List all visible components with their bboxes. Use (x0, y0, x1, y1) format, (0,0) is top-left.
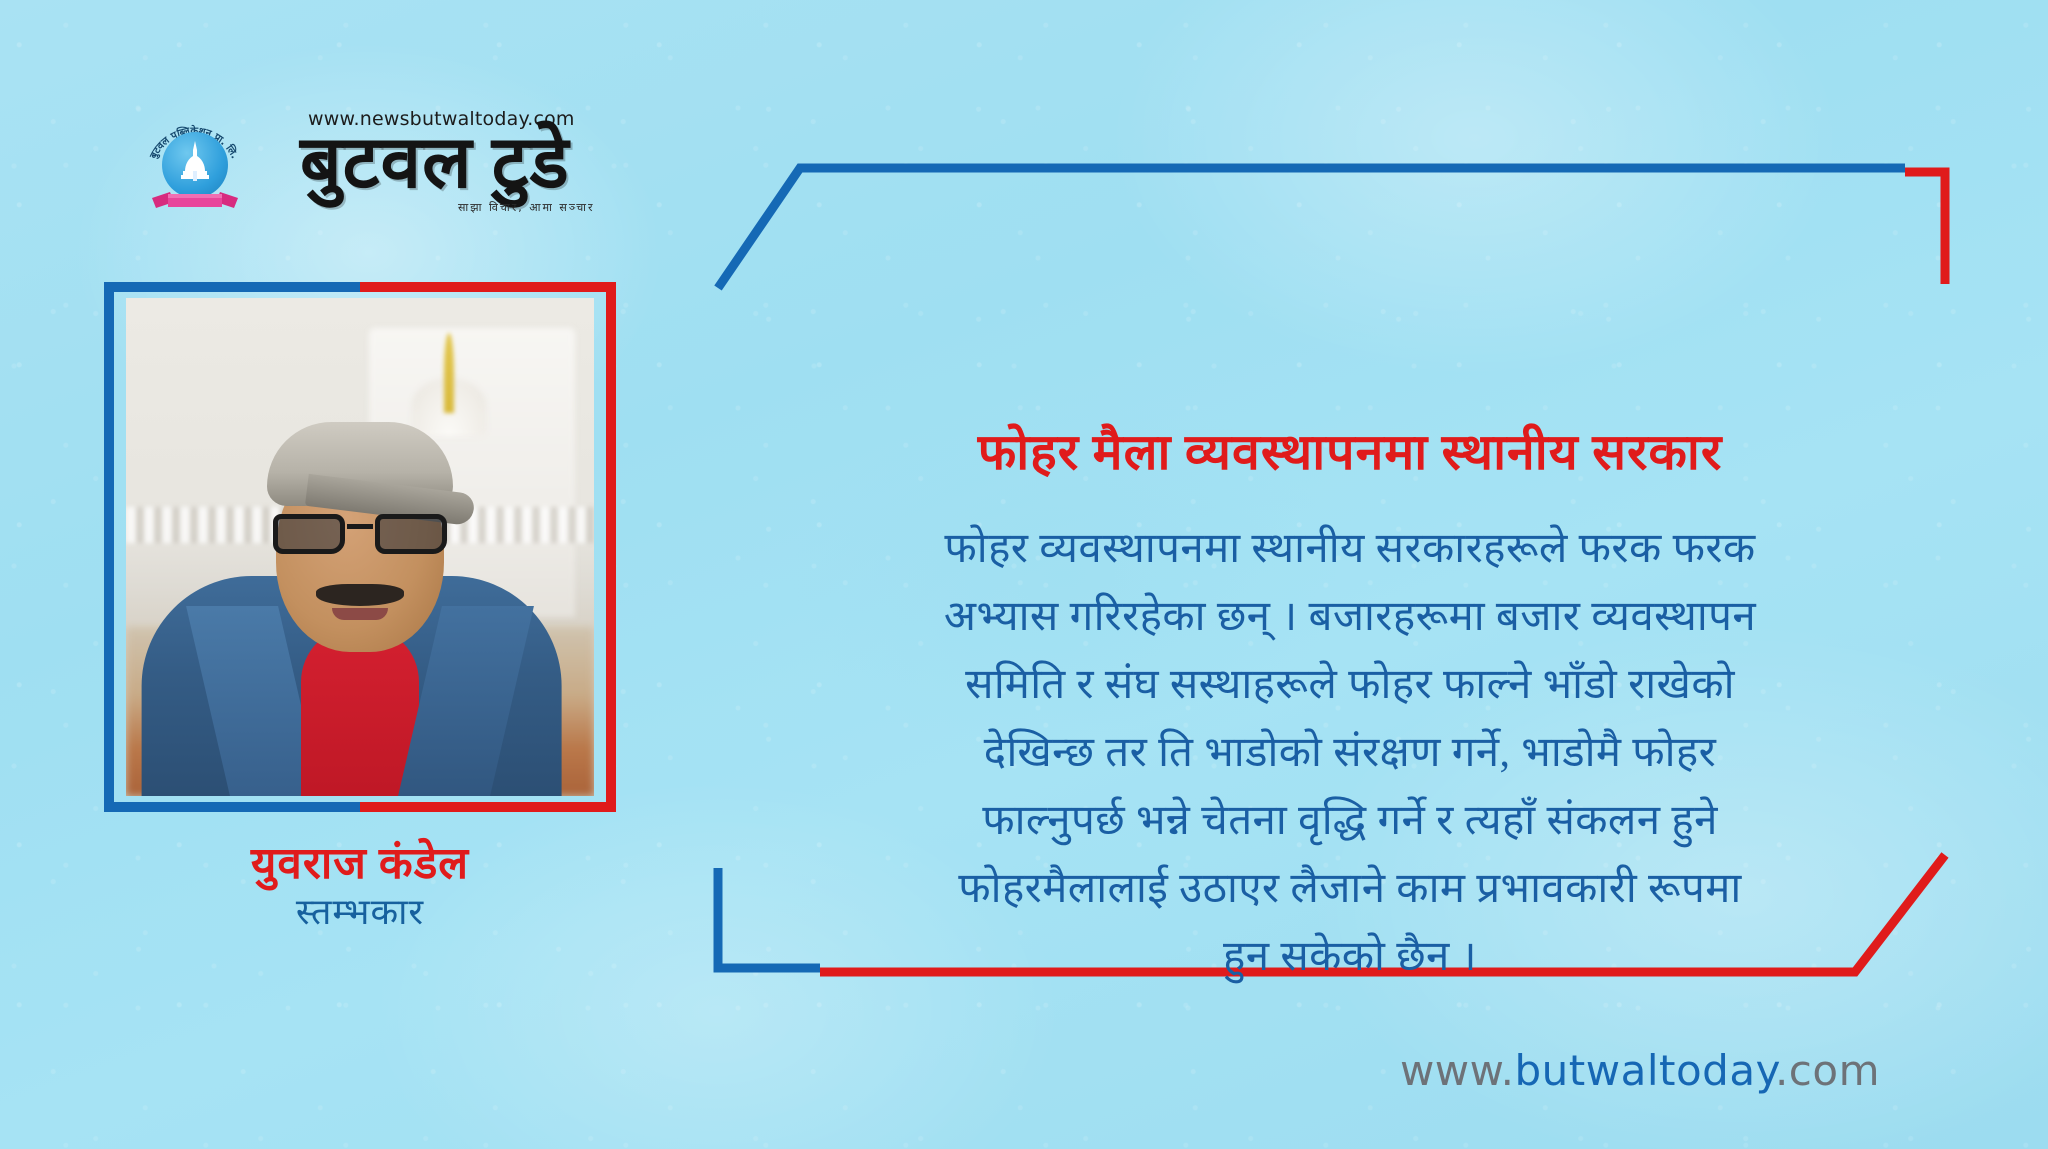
publisher-emblem: बुटवल पब्लिकेशन प्रा. लि. (142, 114, 246, 218)
frame-border-right (606, 282, 616, 812)
frame-border-bottom-left (104, 802, 360, 812)
body-line: फोहर व्यवस्थापनमा स्थानीय सरकारहरूले फरक… (770, 515, 1930, 583)
body-line: हुन सकेको छैन । (770, 923, 1930, 991)
ribbon-banner-icon (150, 188, 240, 212)
author-photo-frame (104, 282, 616, 812)
frame-border-bottom-right (360, 802, 616, 812)
footer-website-url[interactable]: www.butwaltoday.com (1400, 1046, 1880, 1095)
stupa-icon (180, 140, 210, 184)
body-line: फाल्नुपर्छ भन्ने चेतना वृद्धि गर्ने र त्… (770, 787, 1930, 855)
author-byline: युवराज कंडेल स्तम्भकार (104, 838, 616, 935)
article-text-block: फोहर मैला व्यवस्थापनमा स्थानीय सरकार फोह… (770, 420, 1930, 991)
bracket-top-right-red (1905, 172, 1945, 284)
frame-border-top-left (104, 282, 360, 292)
glasses-lens-left (273, 514, 345, 554)
url-domain: butwaltoday (1515, 1046, 1775, 1095)
frame-border-left (104, 282, 114, 812)
article-headline: फोहर मैला व्यवस्थापनमा स्थानीय सरकार (770, 420, 1930, 485)
body-line: अभ्यास गरिरहेका छन् । बजारहरूमा बजार व्य… (770, 583, 1930, 651)
url-prefix: www. (1400, 1046, 1515, 1095)
masthead-logo[interactable]: बुटवल पब्लिकेशन प्रा. लि. www.newsbutwal… (140, 108, 620, 220)
masthead-tagline: साझा विचार, आमा सञ्चार (458, 200, 595, 215)
url-suffix: .com (1775, 1046, 1880, 1095)
body-line: फोहरमैलालाई उठाएर लैजाने काम प्रभावकारी … (770, 855, 1930, 923)
glasses-bridge (347, 524, 373, 529)
author-portrait-photo (126, 298, 594, 796)
eyeglasses-icon (267, 514, 453, 556)
body-line: देखिन्छ तर ति भाडोको संरक्षण गर्ने, भाडो… (770, 719, 1930, 787)
article-body: फोहर व्यवस्थापनमा स्थानीय सरकारहरूले फरक… (770, 515, 1930, 991)
bracket-top-left-blue (718, 168, 1905, 288)
glasses-lens-right (375, 514, 447, 554)
person-figure (126, 298, 594, 796)
moustache-shape (316, 584, 404, 606)
article-graphic-card: बुटवल पब्लिकेशन प्रा. लि. www.newsbutwal… (0, 0, 2048, 1149)
mouth-shape (332, 608, 388, 620)
masthead-wordmark: बुटवल टुडे (300, 126, 570, 199)
frame-border-top-right (360, 282, 616, 292)
author-role: स्तम्भकार (104, 890, 616, 935)
author-name: युवराज कंडेल (104, 838, 616, 890)
body-line: समिति र संघ सस्थाहरूले फोहर फाल्ने भाँडो… (770, 651, 1930, 719)
